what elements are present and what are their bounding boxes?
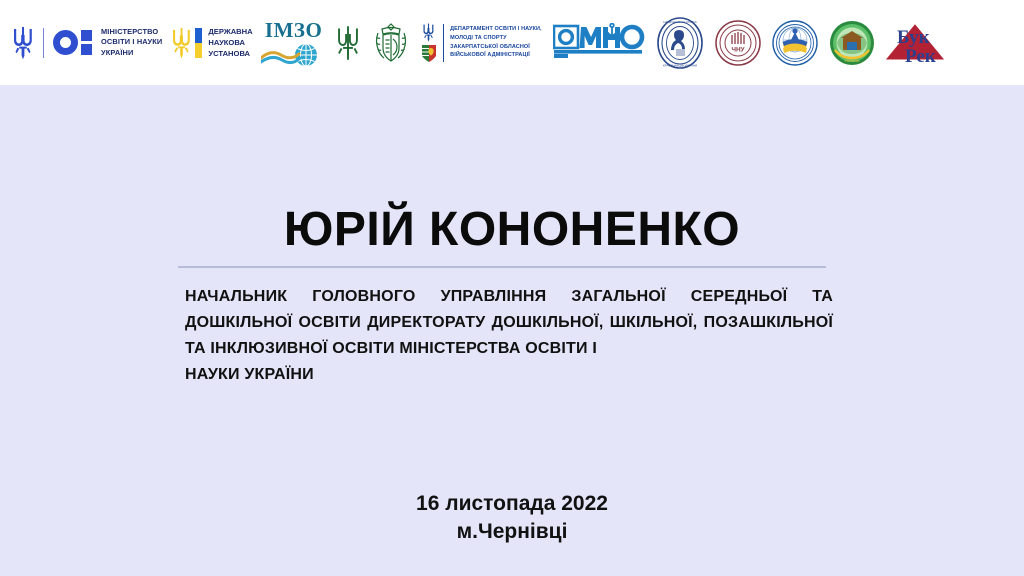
speaker-name-title: ЮРІЙ КОНОНЕНКО [0,205,1024,255]
partner-logo-bar: МІНІСТЕРСТВО ОСВІТИ І НАУКИ УКРАЇНИ [0,0,1024,85]
chnu-seal-icon: ЧНУ [715,20,761,66]
logo-imzo-wordmark: ІМЗО [265,20,322,41]
svg-text:Бук: Бук [897,27,930,48]
green-trident-icon [335,24,361,62]
logo-pelican-seal: НАЦІОНАЛЬНА СПІЛКА КРАЄЗНАВЦІВ УКРАЇНИ [645,12,704,74]
oano-anchor-icon [553,23,645,63]
green-round-emblem-icon: УКРАЇНА [829,20,875,66]
speaker-position-subtitle: НАЧАЛЬНИК ГОЛОВНОГО УПРАВЛІННЯ ЗАГАЛЬНОЇ… [185,284,833,388]
ukraine-flag-bar-icon [195,28,202,58]
department-trident-icon [421,23,436,42]
event-date: 16 листопада 2022 [0,490,1024,518]
zakarpattia-coat-of-arms-icon [371,21,411,65]
ukraine-trident-icon [12,26,34,60]
logo-bukrek: Бук Рек [875,12,949,74]
title-slide: МІНІСТЕРСТВО ОСВІТИ І НАУКИ УКРАЇНИ [0,0,1024,576]
svg-text:НАЦІОНАЛЬНА СПІЛКА: НАЦІОНАЛЬНА СПІЛКА [663,20,697,24]
logo-state-scientific-institution: ДЕРЖАВНА НАУКОВА УСТАНОВА [162,12,252,74]
zakarpattia-shield-icon [421,44,437,63]
yellow-trident-icon [171,27,192,59]
subtitle-last-line: НАУКИ УКРАЇНИ [185,362,833,388]
logo-green-round-emblem: УКРАЇНА [818,12,875,74]
svg-text:УКРАЇНА: УКРАЇНА [844,59,860,63]
logo-green-trident [325,12,361,74]
event-city: м.Чернівці [0,518,1024,546]
logo-oano [542,12,645,74]
svg-text:КРАЄЗНАВЦІВ УКРАЇНИ: КРАЄЗНАВЦІВ УКРАЇНИ [663,63,697,67]
svg-text:Рек: Рек [905,46,936,67]
logo-vertical-rule [443,24,445,62]
logo-ippo-seal [761,12,818,74]
pelican-seal-icon: НАЦІОНАЛЬНА СПІЛКА КРАЄЗНАВЦІВ УКРАЇНИ [656,17,704,69]
subtitle-main: НАЧАЛЬНИК ГОЛОВНОГО УПРАВЛІННЯ ЗАГАЛЬНОЇ… [185,288,833,357]
event-footer: 16 листопада 2022 м.Чернівці [0,490,1024,547]
logo-chnu-seal: ЧНУ [704,12,761,74]
logo-ministry-of-education: МІНІСТЕРСТВО ОСВІТИ І НАУКИ УКРАЇНИ [6,12,162,74]
logo-department-text: ДЕПАРТАМЕНТ ОСВІТИ І НАУКИ, МОЛОДІ ТА СП… [450,25,542,61]
bukrek-mountain-icon: Бук Рек [885,19,945,67]
logo-dnu-text: ДЕРЖАВНА НАУКОВА УСТАНОВА [208,26,252,60]
ippo-globe-seal-icon [772,20,818,66]
globe-wave-icon [261,42,327,66]
logo-divider [43,28,44,58]
logo-department-of-education: ДЕПАРТАМЕНТ ОСВІТИ І НАУКИ, МОЛОДІ ТА СП… [411,12,542,74]
department-emblem-icon [421,23,437,63]
title-divider [178,266,826,268]
logo-imzo: ІМЗО [253,12,325,74]
mon-circle-colon-icon [53,30,92,55]
logo-ministry-text: МІНІСТЕРСТВО ОСВІТИ І НАУКИ УКРАЇНИ [101,27,162,59]
logo-zakarpattia-arms [361,12,411,74]
chnu-wordmark: ЧНУ [731,46,745,53]
